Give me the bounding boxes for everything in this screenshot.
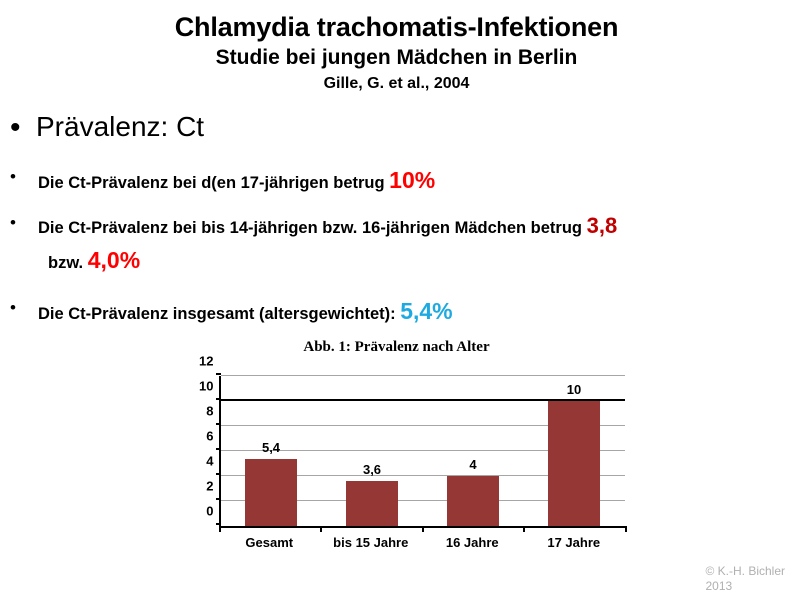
- chart-y-tick-label: 12: [168, 354, 221, 369]
- bullet-item-1-text: Die Ct-Prävalenz bei d(en 17-jährigen be…: [38, 164, 793, 197]
- bullet-item-2-text-before: Die Ct-Prävalenz bei bis 14-jährigen bzw…: [38, 219, 587, 237]
- chart-x-tick: 16 Jahre: [422, 528, 524, 550]
- chart-bar-value-label: 3,6: [363, 462, 381, 477]
- chart-bar: 4: [447, 476, 499, 526]
- bullet-item-3-text-before: Die Ct-Prävalenz insgesamt (altersgewich…: [38, 305, 400, 323]
- chart-x-axis: Gesamtbis 15 Jahre16 Jahre17 Jahre: [219, 528, 625, 550]
- bullet-item-2-continuation: bzw. 4,0%: [10, 244, 793, 277]
- chart-y-tick-label: 0: [168, 504, 221, 519]
- bullet-dot-icon: •: [10, 164, 38, 185]
- page-citation: Gille, G. et al., 2004: [0, 74, 793, 94]
- chart-x-tick-label: 17 Jahre: [523, 528, 625, 550]
- bullet-item-2-text: Die Ct-Prävalenz bei bis 14-jährigen bzw…: [38, 210, 793, 241]
- chart-plot-area: 024681012 5,43,6410: [219, 376, 625, 528]
- chart-bars: 5,43,6410: [221, 376, 625, 526]
- bullet-heading-label: Prävalenz: Ct: [36, 110, 793, 144]
- chart-x-tick: Gesamt: [219, 528, 321, 550]
- bullet-item-2: • Die Ct-Prävalenz bei bis 14-jährigen b…: [10, 210, 793, 241]
- chart-y-tick-label: 2: [168, 479, 221, 494]
- chart-bar-cell: 4: [423, 376, 524, 526]
- bullet-heading-row: • Prävalenz: Ct: [10, 110, 793, 144]
- bullet-dot-icon: •: [10, 210, 38, 231]
- chart-x-tick-mark: [320, 526, 322, 532]
- chart-bar-cell: 5,4: [221, 376, 322, 526]
- chart-bar-value-label: 5,4: [262, 440, 280, 455]
- page-subtitle: Studie bei jungen Mädchen in Berlin: [0, 45, 793, 71]
- chart-x-tick-mark: [625, 526, 627, 532]
- chart-x-tick-label: 16 Jahre: [422, 528, 524, 550]
- bullet-item-1-value: 10%: [389, 167, 435, 193]
- copyright-line-2: 2013: [705, 579, 785, 594]
- bar-chart: 024681012 5,43,6410 Gesamtbis 15 Jahre16…: [167, 364, 627, 564]
- bullet-dot-icon: •: [10, 110, 36, 143]
- copyright-notice: © K.-H. Bichler 2013: [705, 564, 785, 594]
- chart-x-tick-label: bis 15 Jahre: [320, 528, 422, 550]
- bullet-dot-icon: •: [10, 295, 38, 316]
- bullet-item-3-value: 5,4%: [400, 298, 452, 324]
- bullet-item-2-value: 3,8: [587, 213, 618, 238]
- chart-x-tick-mark: [523, 526, 525, 532]
- chart-y-tick-label: 8: [168, 404, 221, 419]
- chart-bar-value-label: 4: [469, 457, 476, 472]
- chart-title: Abb. 1: Prävalenz nach Alter: [0, 339, 793, 356]
- chart-x-tick-mark: [219, 526, 221, 532]
- chart-bar: 5,4: [245, 459, 297, 527]
- bullet-item-1-text-before: Die Ct-Prävalenz bei d(en 17-jährigen be…: [38, 174, 389, 192]
- chart-bar: 10: [548, 401, 600, 526]
- bullet-item-3-text: Die Ct-Prävalenz insgesamt (altersgewich…: [38, 295, 793, 328]
- copyright-line-1: © K.-H. Bichler: [705, 564, 785, 579]
- bullet-item-2-continuation-value: 4,0%: [88, 247, 140, 273]
- chart-x-tick-mark: [422, 526, 424, 532]
- chart-x-tick: 17 Jahre: [523, 528, 625, 550]
- chart-x-tick-label: Gesamt: [219, 528, 321, 550]
- chart-x-tick: bis 15 Jahre: [320, 528, 422, 550]
- chart-bar-cell: 3,6: [322, 376, 423, 526]
- chart-y-tick-label: 10: [168, 379, 221, 394]
- chart-y-tick-label: 6: [168, 429, 221, 444]
- bullet-item-1: • Die Ct-Prävalenz bei d(en 17-jährigen …: [10, 164, 793, 197]
- chart-y-tick-mark: [216, 373, 221, 375]
- bullet-item-2-continuation-before: bzw.: [48, 254, 88, 272]
- page-title: Chlamydia trachomatis-Infektionen: [0, 12, 793, 42]
- bullet-list: • Prävalenz: Ct • Die Ct-Prävalenz bei d…: [0, 110, 793, 327]
- chart-y-tick-label: 4: [168, 454, 221, 469]
- chart-bar-value-label: 10: [567, 382, 581, 397]
- chart-bar-cell: 10: [524, 376, 625, 526]
- slide-title-block: Chlamydia trachomatis-Infektionen Studie…: [0, 0, 793, 94]
- bullet-item-3: • Die Ct-Prävalenz insgesamt (altersgewi…: [10, 295, 793, 328]
- chart-bar: 3,6: [346, 481, 398, 526]
